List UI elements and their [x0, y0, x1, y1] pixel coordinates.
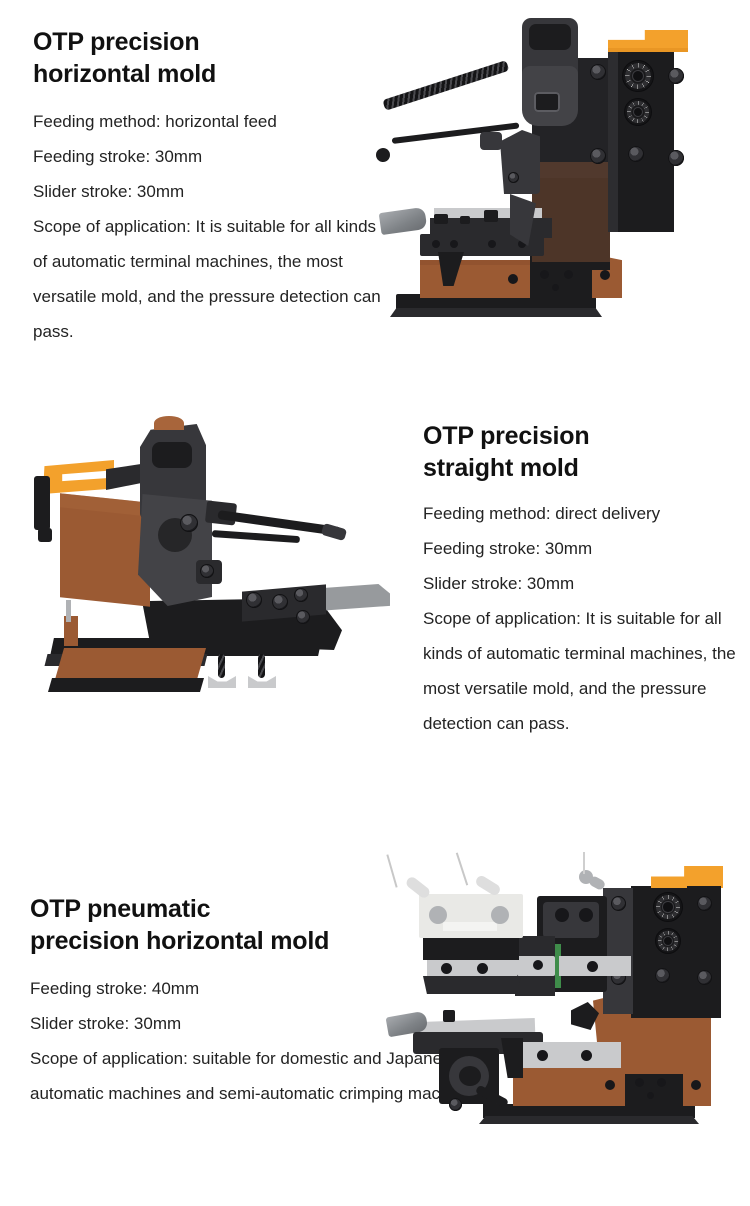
- heading-line-1: OTP precision: [33, 26, 393, 58]
- spec-scope: Scope of application: It is suitable for…: [423, 601, 738, 741]
- section-1-heading: OTP precision horizontal mold: [33, 26, 393, 90]
- spec-item: Feeding stroke: 30mm: [33, 139, 393, 174]
- product-photo-straight-mold: [22, 402, 402, 712]
- section-horizontal-mold-text: OTP precision horizontal mold Feeding me…: [33, 26, 393, 349]
- air-fitting-left: [404, 875, 431, 900]
- spec-item: Slider stroke: 30mm: [33, 174, 393, 209]
- section-2-spec-list: Feeding method: direct delivery Feeding …: [423, 496, 738, 741]
- spec-item: Feeding method: horizontal feed: [33, 104, 393, 139]
- dial-knob-upper: [653, 892, 683, 922]
- spec-item: Slider stroke: 30mm: [423, 566, 738, 601]
- heading-line-2: horizontal mold: [33, 58, 393, 90]
- product-photo-pneumatic-mold: [383, 852, 743, 1152]
- spec-item: Feeding method: direct delivery: [423, 496, 738, 531]
- heading-line-1: OTP precision: [423, 420, 738, 452]
- heading-line-2: straight mold: [423, 452, 738, 484]
- product-photo-horizontal-mold: [372, 12, 738, 342]
- spec-scope: Scope of application: It is suitable for…: [33, 209, 393, 349]
- pedal-plate: [379, 207, 428, 235]
- cylinder-label: [443, 922, 497, 931]
- orange-bracket: [40, 460, 114, 494]
- dial-knob-upper: [622, 60, 654, 92]
- orange-top-plate: [651, 866, 723, 888]
- section-straight-mold-text: OTP precision straight mold Feeding meth…: [423, 420, 738, 741]
- product-spec-page: OTP precision horizontal mold Feeding me…: [0, 0, 750, 1206]
- dial-knob-lower: [655, 928, 681, 954]
- dial-knob-lower: [624, 98, 652, 126]
- spring-rod: [382, 60, 509, 111]
- section-1-spec-list: Feeding method: horizontal feed Feeding …: [33, 104, 393, 349]
- spec-item: Feeding stroke: 30mm: [423, 531, 738, 566]
- section-2-heading: OTP precision straight mold: [423, 420, 738, 484]
